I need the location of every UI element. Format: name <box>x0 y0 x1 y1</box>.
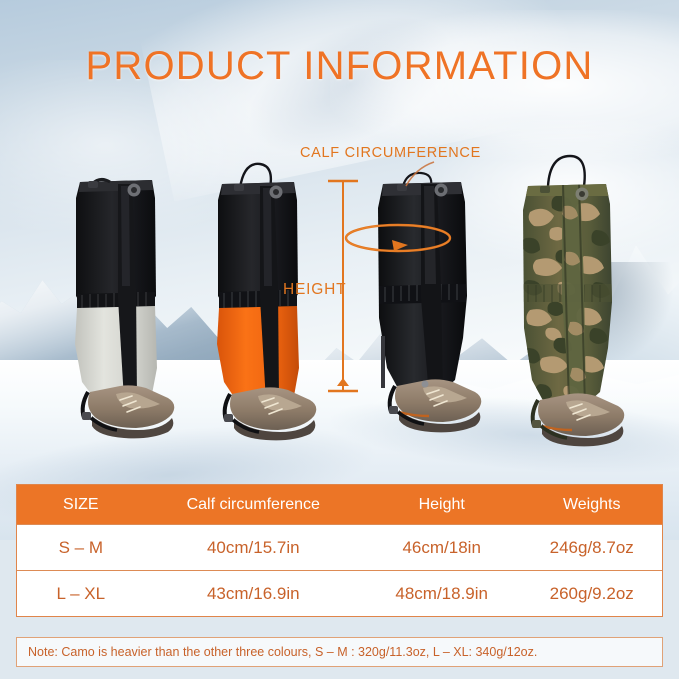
height-annotation-label: HEIGHT <box>283 281 346 299</box>
column-header-weight: Weights <box>521 496 662 514</box>
column-header-size: SIZE <box>17 496 145 514</box>
table-note: Note: Camo is heavier than the other thr… <box>16 637 663 667</box>
cell-size: L – XL <box>17 584 145 604</box>
table-row: L – XL 43cm/16.9in 48cm/18.9in 260g/9.2o… <box>17 570 662 616</box>
cell-height: 48cm/18.9in <box>362 584 522 604</box>
product-gaiter-camo <box>500 152 650 457</box>
table-header-row: SIZE Calf circumference Height Weights <box>17 485 662 524</box>
page-title: PRODUCT INFORMATION <box>0 44 679 89</box>
column-header-height: Height <box>362 496 522 514</box>
product-gaiter-grey <box>58 168 198 453</box>
cell-calf: 43cm/16.9in <box>145 584 362 604</box>
cell-size: S – M <box>17 538 145 558</box>
note-text: Note: Camo is heavier than the other thr… <box>28 645 537 659</box>
product-gaiter-orange <box>198 160 338 455</box>
ellipse-measure-arrow-icon <box>342 214 454 262</box>
product-gaiter-black <box>363 168 503 456</box>
cell-weight: 260g/9.2oz <box>521 584 662 604</box>
spec-table: SIZE Calf circumference Height Weights S… <box>16 484 663 617</box>
cell-weight: 246g/8.7oz <box>521 538 662 558</box>
column-header-calf: Calf circumference <box>145 496 362 514</box>
calf-leader-line <box>404 158 438 188</box>
cell-calf: 40cm/15.7in <box>145 538 362 558</box>
calf-circumference-annotation-label: CALF CIRCUMFERENCE <box>300 145 481 161</box>
cell-height: 46cm/18in <box>362 538 522 558</box>
product-information-image: PRODUCT INFORMATION <box>0 0 679 679</box>
table-row: S – M 40cm/15.7in 46cm/18in 246g/8.7oz <box>17 524 662 570</box>
